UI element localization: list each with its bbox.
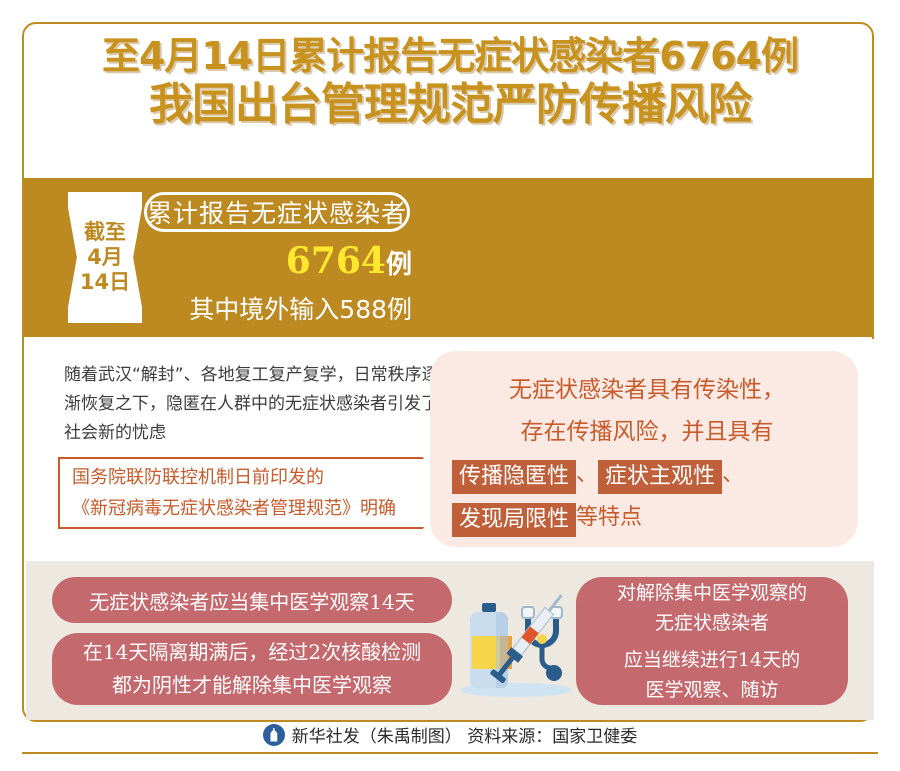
- measure-box-2: 在14天隔离期满后，经过2次核酸检测 都为阴性才能解除集中医学观察: [52, 633, 452, 705]
- credit-text: 新华社发（朱禹制图） 资料来源：国家卫健委: [292, 722, 637, 747]
- measure-box-1-text: 无症状感染者应当集中医学观察14天: [89, 586, 414, 615]
- callout-line-2: 《新冠病毒无症状感染者管理规范》明确: [72, 493, 446, 524]
- title-line-1: 至4月14日累计报告无症状感染者6764例: [0, 34, 900, 79]
- footer-divider: [22, 752, 878, 754]
- imported-cases-line: 其中境外输入588例: [120, 290, 412, 326]
- characteristics-line-2: 存在传播风险，并且具有: [452, 411, 842, 453]
- total-value: 6764例: [120, 240, 412, 282]
- cumulative-label-pill: 累计报告无症状感染者: [144, 192, 410, 232]
- highlight-tag-3: 发现局限性: [452, 503, 576, 537]
- page-title: 至4月14日累计报告无症状感染者6764例 我国出台管理规范严防传播风险: [0, 34, 900, 131]
- medical-bottle-syringe-stethoscope-icon: [456, 591, 576, 701]
- regulation-callout: 国务院联防联控机制日前印发的 《新冠病毒无症状感染者管理规范》明确: [58, 457, 446, 529]
- infographic-root: 至4月14日累计报告无症状感染者6764例 我国出台管理规范严防传播风险 截至 …: [0, 0, 900, 771]
- bottom-section: 无症状感染者应当集中医学观察14天 在14天隔离期满后，经过2次核酸检测 都为阴…: [26, 561, 874, 720]
- measure-box-3-line-2: 无症状感染者: [655, 608, 769, 638]
- measure-box-1: 无症状感染者应当集中医学观察14天: [52, 577, 452, 623]
- footer-credit: 新华社发（朱禹制图） 资料来源：国家卫健委: [0, 722, 900, 751]
- ribbon-line-2: 4月: [87, 245, 123, 270]
- title-line-2: 我国出台管理规范严防传播风险: [0, 79, 900, 131]
- intro-paragraph: 随着武汉“解封”、各地复工复产复学，日常秩序逐渐恢复之下，隐匿在人群中的无症状感…: [64, 361, 444, 448]
- measure-box-3-line-1: 对解除集中医学观察的: [617, 578, 807, 608]
- measure-box-3-line-3: 应当继续进行14天的: [624, 645, 800, 675]
- pill-label: 累计报告无症状感染者: [147, 194, 407, 230]
- characteristics-tail: 等特点: [576, 505, 642, 530]
- highlight-tag-1: 传播隐匿性: [452, 460, 576, 494]
- xinhua-logo-icon: [263, 724, 285, 746]
- middle-section: 随着武汉“解封”、各地复工复产复学，日常秩序逐渐恢复之下，隐匿在人群中的无症状感…: [26, 339, 874, 561]
- characteristics-line-1: 无症状感染者具有传染性，: [452, 369, 842, 411]
- separator-1: 、: [576, 462, 598, 487]
- callout-line-1: 国务院联防联控机制日前印发的: [72, 462, 446, 493]
- measure-box-2-line-1: 在14天隔离期满后，经过2次核酸检测: [83, 636, 421, 669]
- separator-2: 、: [722, 462, 744, 487]
- measure-box-3: 对解除集中医学观察的 无症状感染者 应当继续进行14天的 医学观察、随访: [576, 577, 848, 705]
- characteristics-panel: 无症状感染者具有传染性， 存在传播风险，并且具有 传播隐匿性、症状主观性、发现局…: [430, 351, 858, 547]
- total-unit: 例: [386, 250, 412, 280]
- highlight-tag-2: 症状主观性: [598, 460, 722, 494]
- total-number: 6764: [286, 240, 386, 282]
- measure-box-2-line-2: 都为阴性才能解除集中医学观察: [112, 669, 392, 702]
- measure-box-3-line-4: 医学观察、随访: [645, 675, 778, 705]
